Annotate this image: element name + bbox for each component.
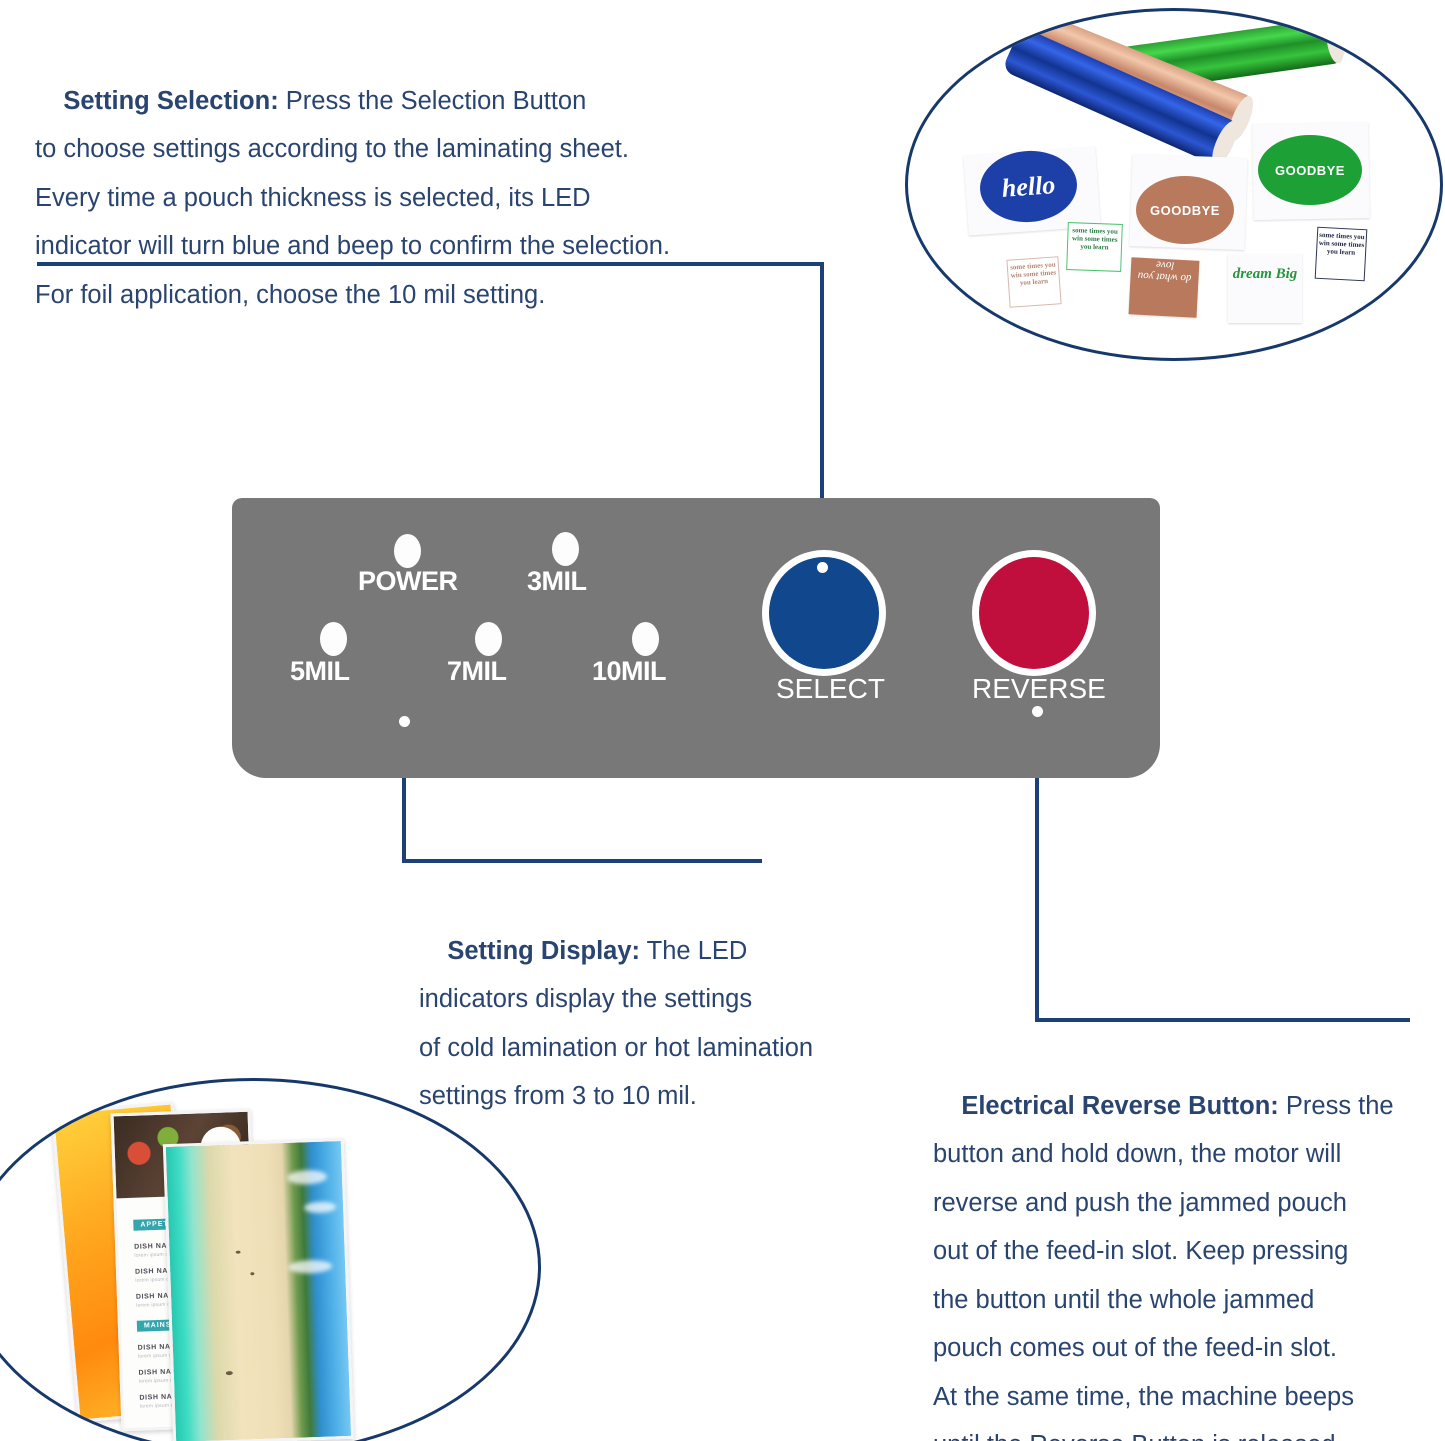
reverse-button-title: Electrical Reverse Button: <box>961 1092 1278 1120</box>
reverse-button[interactable] <box>972 550 1096 676</box>
dream-big-card <box>1228 254 1302 323</box>
dream-big-text: dream Big <box>1232 266 1298 282</box>
goodbye-copper-text: GOODBYE <box>1150 203 1220 218</box>
cloud-shape <box>304 1201 336 1213</box>
led-5mil-indicator <box>320 622 347 656</box>
beach-detail <box>226 1371 233 1375</box>
setting-selection-callout: Setting Selection: Press the Selection B… <box>35 28 795 368</box>
led-7mil-indicator <box>475 622 502 656</box>
goodbye-green-text: GOODBYE <box>1275 163 1345 178</box>
led-label-10mil: 10MIL <box>592 656 666 687</box>
hello-sticker-text: hello <box>1001 170 1056 204</box>
do-what-you-love-sticker: do what you love <box>1129 257 1200 317</box>
goodbye-green-sticker: GOODBYE <box>1258 135 1362 205</box>
led-10mil-indicator <box>632 622 659 656</box>
led-3mil-indicator <box>552 532 579 566</box>
cloud-shape <box>287 1170 327 1185</box>
roll-cap-icon <box>1324 17 1347 65</box>
leader-line-selection-horizontal <box>37 262 824 266</box>
led-label-3mil: 3MIL <box>527 566 587 597</box>
beach-detail <box>250 1272 254 1275</box>
cloud-shape <box>288 1259 332 1274</box>
setting-display-title: Setting Display: <box>447 937 640 965</box>
leader-dot-reverse-button <box>1032 706 1043 717</box>
beach-detail <box>236 1251 241 1254</box>
foil-rolls-photo: hello GOODBYE GOODBYE some times you win… <box>905 8 1443 361</box>
reverse-button-label: REVERSE <box>972 673 1106 705</box>
leader-line-reverse-horizontal <box>1035 1018 1410 1022</box>
led-label-power: POWER <box>358 566 458 597</box>
leader-dot-setting-display <box>399 716 410 727</box>
sometimes-sticker-rose: some times you win some times you learn <box>1006 256 1061 308</box>
setting-selection-title: Setting Selection: <box>63 87 278 115</box>
sometimes-sticker-navy: some times you win some times you learn <box>1315 227 1368 282</box>
control-panel: POWER 3MIL 5MIL 7MIL 10MIL SELECT REVERS… <box>232 498 1160 778</box>
leader-line-display-horizontal <box>402 859 762 863</box>
reverse-button-body: Press the button and hold down, the moto… <box>933 1092 1394 1441</box>
goodbye-copper-sticker: GOODBYE <box>1136 176 1234 244</box>
led-power-indicator <box>394 534 421 568</box>
led-label-7mil: 7MIL <box>447 656 507 687</box>
do-what-you-love-text: do what you love <box>1130 257 1200 297</box>
reverse-button-callout: Electrical Reverse Button: Press the but… <box>933 1033 1433 1441</box>
select-button-label: SELECT <box>776 673 885 705</box>
setting-selection-body: Press the Selection Button to choose set… <box>35 87 670 309</box>
beach-laminated-sheet <box>163 1138 354 1441</box>
infographic-page: Setting Selection: Press the Selection B… <box>0 0 1445 1441</box>
sometimes-sticker-green: some times you win some times you learn <box>1066 222 1123 272</box>
led-label-5mil: 5MIL <box>290 656 350 687</box>
laminated-sheets-photo: NEW APPETIZERS DISH NAME lorem ipsum dol… <box>0 1078 541 1441</box>
leader-dot-select-button <box>817 562 828 573</box>
